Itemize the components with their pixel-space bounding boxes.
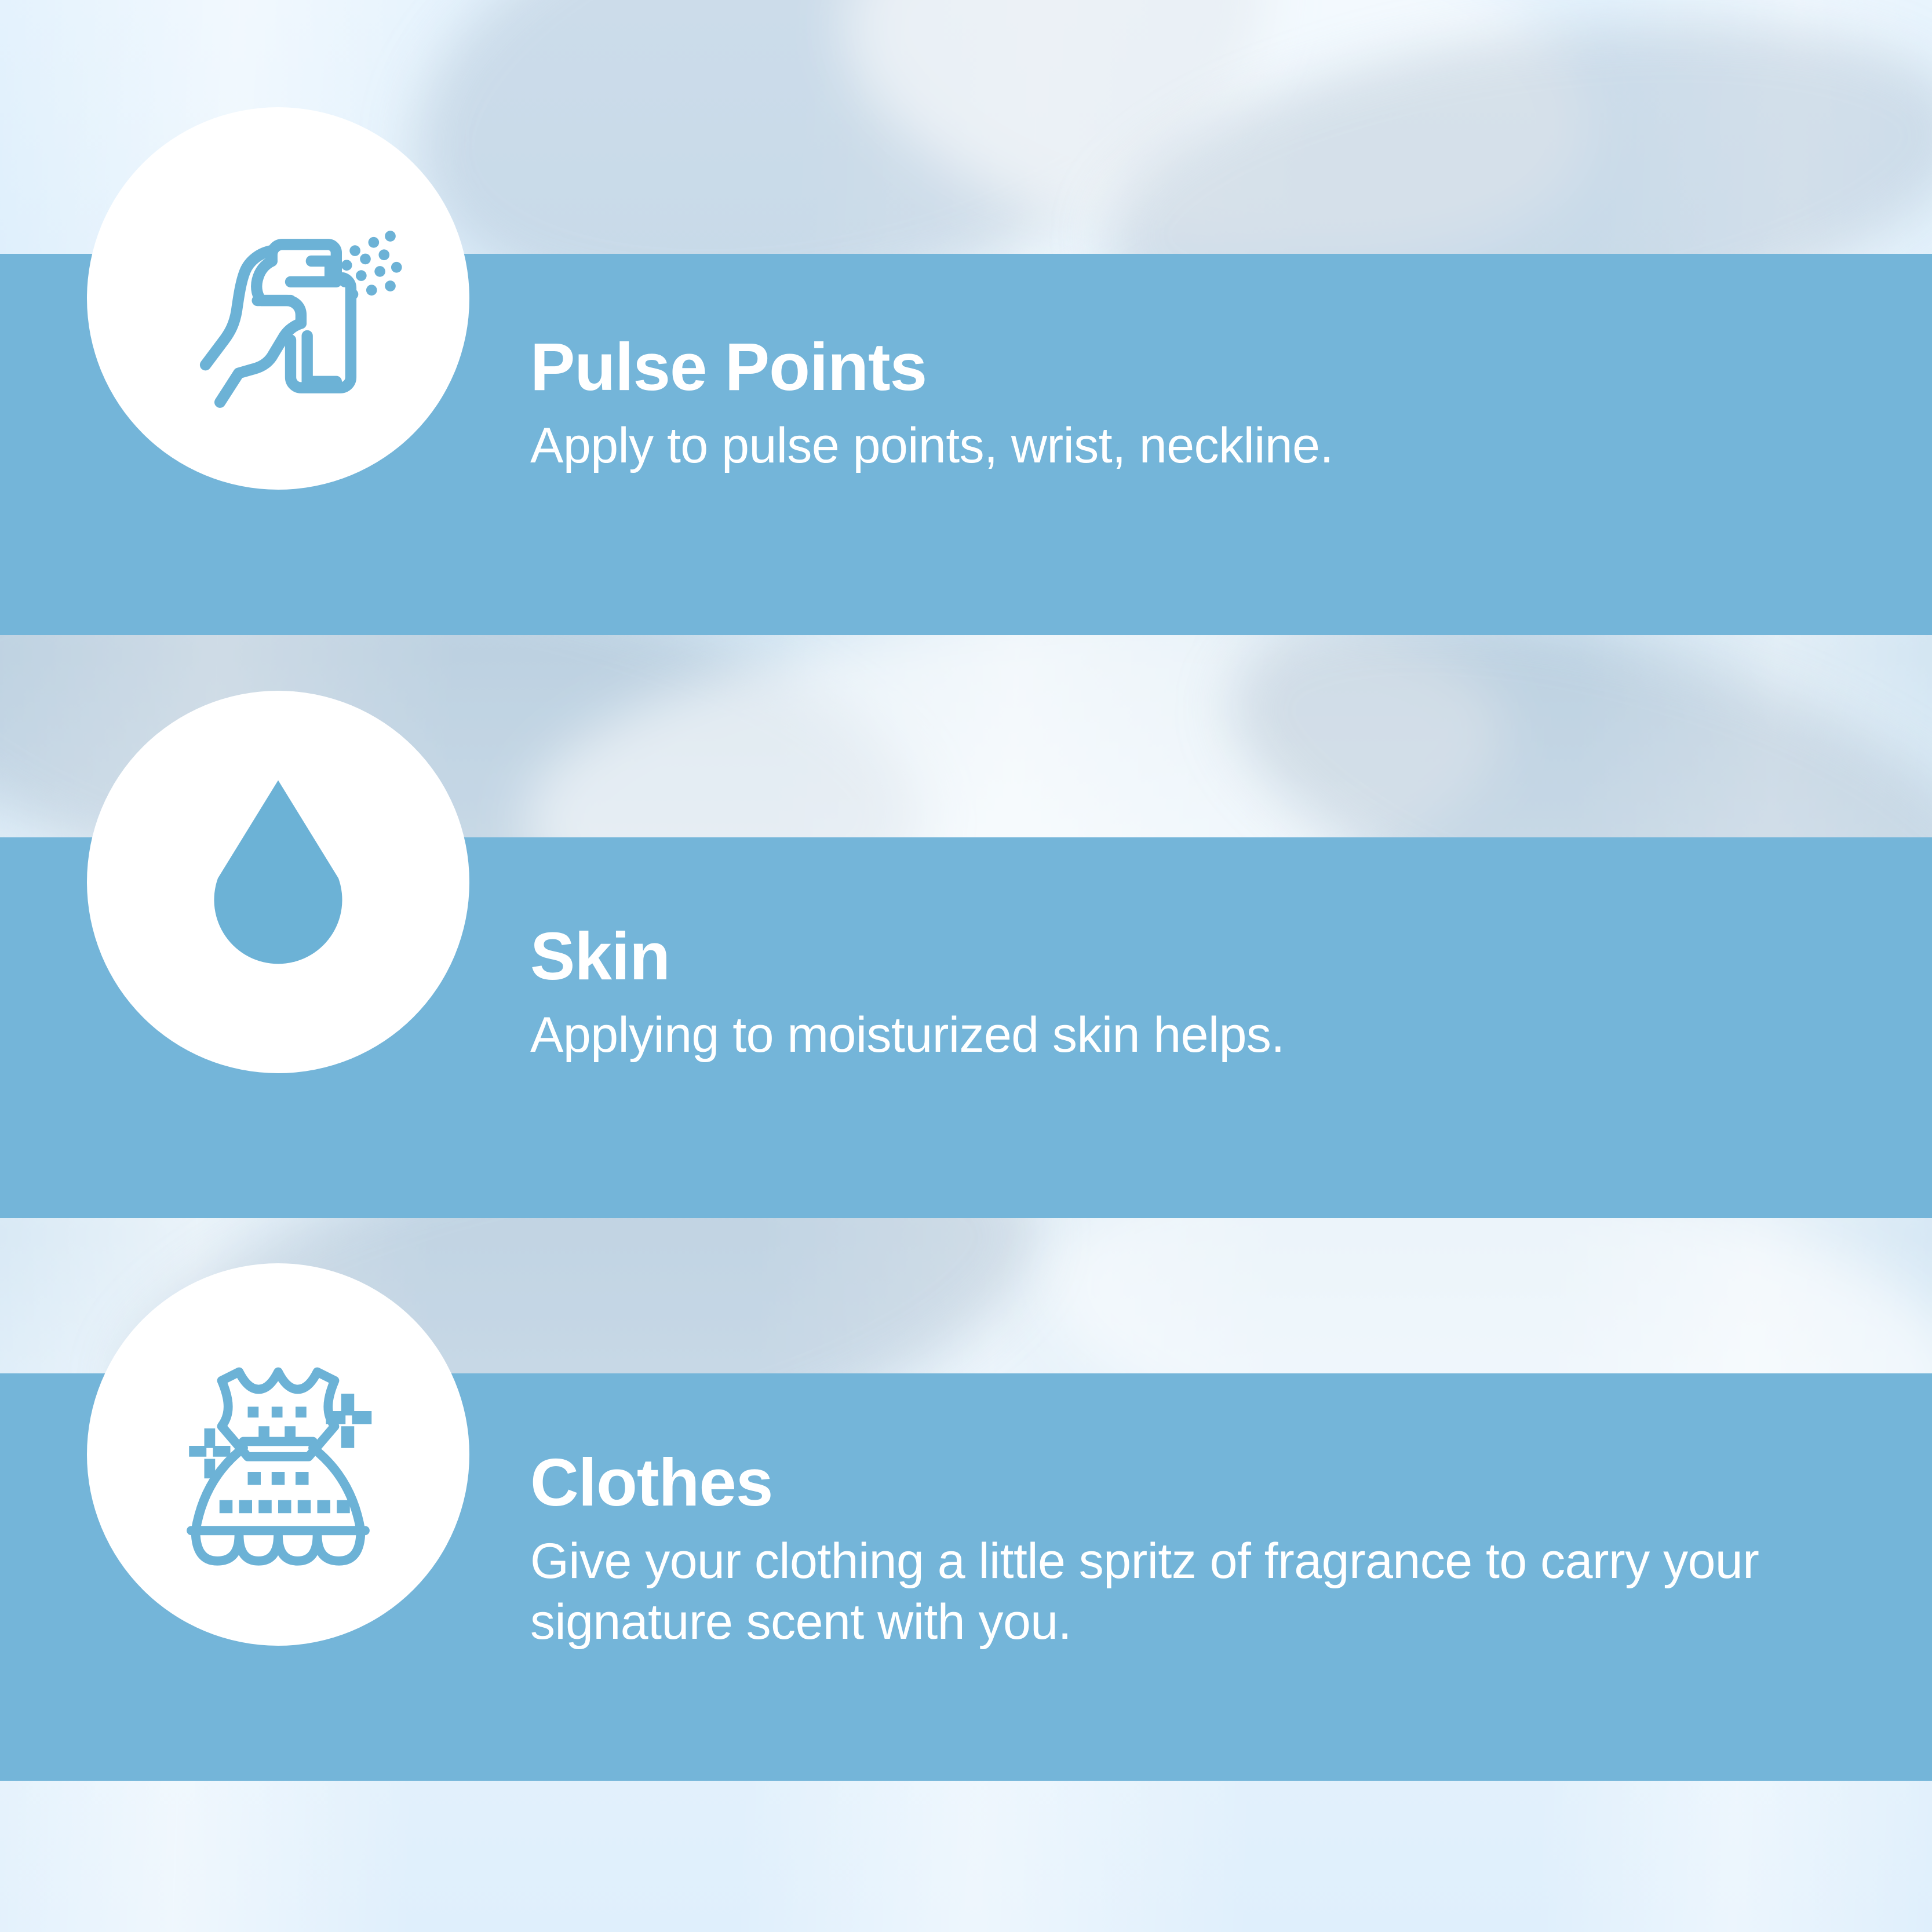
water-droplet-icon — [183, 769, 374, 995]
section-description: Give your clothing a little spritz of fr… — [530, 1531, 1863, 1653]
section-title: Skin — [530, 923, 1285, 990]
section-pulse-points: Pulse Points Apply to pulse points, wris… — [0, 107, 1932, 513]
icon-circle-clothes — [87, 1263, 469, 1646]
section-description: Applying to moisturized skin helps. — [530, 1005, 1285, 1066]
section-skin: Skin Applying to moisturized skin helps. — [0, 691, 1932, 1096]
section-title: Clothes — [530, 1449, 1863, 1516]
text-block-pulse-points: Pulse Points Apply to pulse points, wris… — [530, 333, 1333, 476]
text-block-clothes: Clothes Give your clothing a little spri… — [530, 1449, 1863, 1653]
icon-circle-skin — [87, 691, 469, 1073]
section-title: Pulse Points — [530, 333, 1333, 400]
text-block-skin: Skin Applying to moisturized skin helps. — [530, 923, 1285, 1066]
icon-circle-pulse-points — [87, 107, 469, 490]
section-description: Apply to pulse points, wrist, neckline. — [530, 415, 1333, 476]
dress-with-sparkles-icon — [148, 1324, 409, 1585]
spray-bottle-in-hand-icon — [154, 174, 403, 423]
section-clothes: Clothes Give your clothing a little spri… — [0, 1263, 1932, 1704]
